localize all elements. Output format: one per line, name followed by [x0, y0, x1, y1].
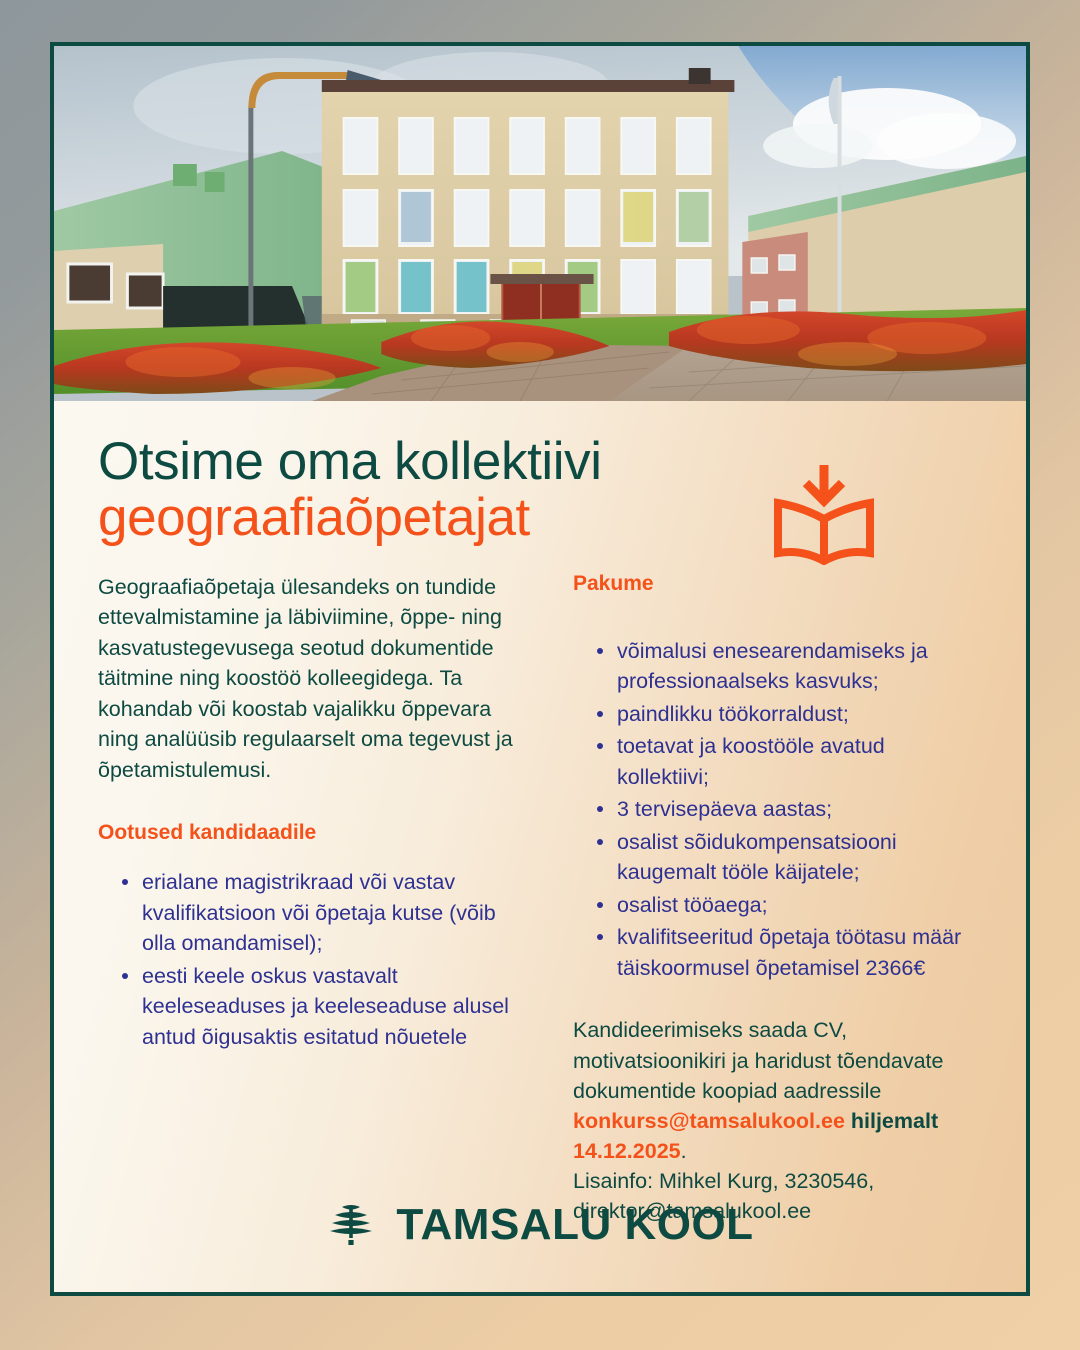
apply-intro-text: Kandideerimiseks saada CV, motivatsiooni… [573, 1018, 943, 1102]
tamsalu-tree-logo-icon [326, 1202, 376, 1248]
offer-list: võimalusi enesearendamiseks ja professio… [591, 636, 982, 984]
application-instructions: Kandideerimiseks saada CV, motivatsiooni… [573, 1015, 982, 1165]
two-column-layout: Geograafiaõpetaja ülesandeks on tundide … [98, 572, 982, 1226]
school-building-photo [54, 46, 1026, 401]
intro-paragraph: Geograafiaõpetaja ülesandeks on tundide … [98, 572, 523, 786]
deadline-date: 14.12.2025 [573, 1139, 681, 1163]
list-item: 3 tervisepäeva aastas; [591, 794, 982, 825]
job-posting-card: Otsime oma kollektiivi geograafiaõpetaja… [50, 42, 1030, 1296]
deadline-label: hiljemalt [845, 1109, 938, 1133]
list-item: kvalifitseeritud õpetaja töötasu määr tä… [591, 922, 982, 983]
school-photo-illustration [54, 46, 1026, 401]
offer-heading: Pakume [573, 572, 982, 596]
list-item: toetavat ja koostööle avatud kollektiivi… [591, 731, 982, 792]
list-item: osalist tööaega; [591, 890, 982, 921]
list-item: eesti keele oskus vastavalt keeleseaduse… [116, 961, 523, 1053]
right-column: Pakume võimalusi enesearendamiseks ja pr… [573, 572, 982, 1226]
spacer [573, 618, 982, 636]
expectations-list: erialane magistrikraad või vastav kvalif… [116, 867, 523, 1052]
left-column: Geograafiaõpetaja ülesandeks on tundide … [98, 572, 523, 1055]
logo-wordmark: TAMSALU KOOL [396, 1203, 753, 1247]
application-email-link[interactable]: konkurss@tamsalukool.ee [573, 1109, 845, 1133]
spacer [98, 785, 523, 821]
contact-line: Lisainfo: Mihkel Kurg, 3230546, [573, 1166, 982, 1196]
list-item: paindlikku töökorraldust; [591, 699, 982, 730]
list-item: erialane magistrikraad või vastav kvalif… [116, 867, 523, 959]
spacer [573, 985, 982, 1015]
list-item: osalist sõidukompensatsiooni kaugemalt t… [591, 827, 982, 888]
footer-logo: TAMSALU KOOL [54, 1202, 1026, 1248]
list-item: võimalusi enesearendamiseks ja professio… [591, 636, 982, 697]
poster-content: Otsime oma kollektiivi geograafiaõpetaja… [54, 401, 1026, 1292]
open-book-with-down-arrow-icon [772, 461, 876, 565]
apply-period: . [681, 1139, 687, 1163]
expectations-heading: Ootused kandidaadile [98, 821, 523, 845]
